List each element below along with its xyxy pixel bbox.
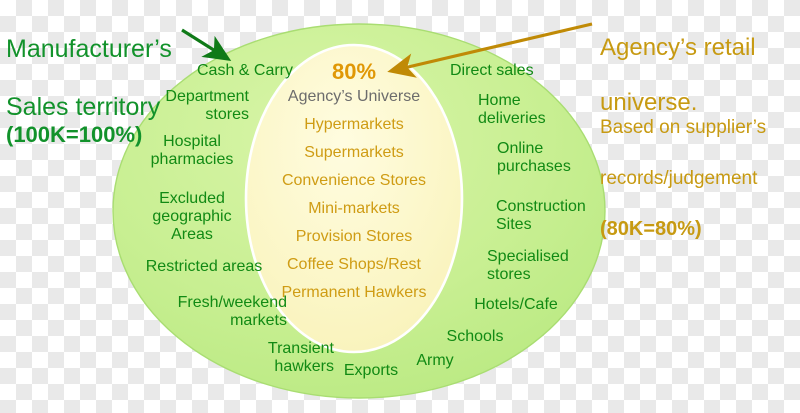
outer-set-item-department-stores: Department stores — [139, 88, 249, 124]
outer-set-item-specialised-stores: Specialised stores — [487, 248, 597, 284]
outer-set-item-online-purchases: Online purchases — [497, 140, 587, 176]
outer-set-item-cash-and-carry: Cash & Carry — [186, 62, 304, 80]
outer-set-item-hospital-pharmacies: Hospital pharmacies — [133, 133, 251, 169]
outer-set-item-construction-sites: Construction Sites — [496, 198, 606, 234]
inner-set-item-convenience-stores: Convenience Stores — [246, 172, 462, 190]
outer-set-item-fresh-weekend-markets: Fresh/weekend markets — [155, 294, 287, 330]
outer-set-item-transient-hawkers: Transient hawkers — [232, 340, 334, 376]
venn-diagram-canvas: Manufacturer’s Sales territory (100K=100… — [0, 0, 800, 413]
inner-set-item-mini-markets: Mini-markets — [246, 200, 462, 218]
callout-agency-note2: records/judgement — [600, 168, 800, 190]
outer-set-item-direct-sales: Direct sales — [450, 62, 558, 80]
outer-set-item-army: Army — [405, 352, 465, 370]
callout-agency-note1: Based on supplier’s — [600, 117, 800, 139]
callout-manufacturer-line2: Sales territory — [6, 93, 160, 121]
outer-set-item-restricted-areas: Restricted areas — [131, 258, 277, 276]
inner-set-item-provision-stores: Provision Stores — [246, 228, 462, 246]
callout-agency: Agency’s retail universe. Based on suppl… — [600, 6, 800, 269]
outer-set-item-schools: Schools — [435, 328, 515, 346]
inner-set-item-coffee-shops: Coffee Shops/Rest — [246, 256, 462, 274]
callout-agency-value: (80K=80%) — [600, 218, 800, 241]
outer-set-item-exports: Exports — [330, 362, 412, 380]
callout-agency-line1: Agency’s retail — [600, 34, 756, 61]
callout-manufacturer-line1: Manufacturer’s — [6, 35, 172, 63]
inner-set-item-hypermarkets: Hypermarkets — [246, 116, 462, 134]
outer-set-item-excluded-geographic-areas: Excluded geographic Areas — [133, 190, 251, 244]
callout-agency-line2: universe. — [600, 89, 697, 116]
inner-set-heading: Agency’s Universe — [246, 88, 462, 106]
outer-set-item-home-deliveries: Home deliveries — [478, 92, 568, 128]
outer-set-item-hotels-cafe: Hotels/Cafe — [461, 296, 571, 314]
inner-set-item-supermarkets: Supermarkets — [246, 144, 462, 162]
